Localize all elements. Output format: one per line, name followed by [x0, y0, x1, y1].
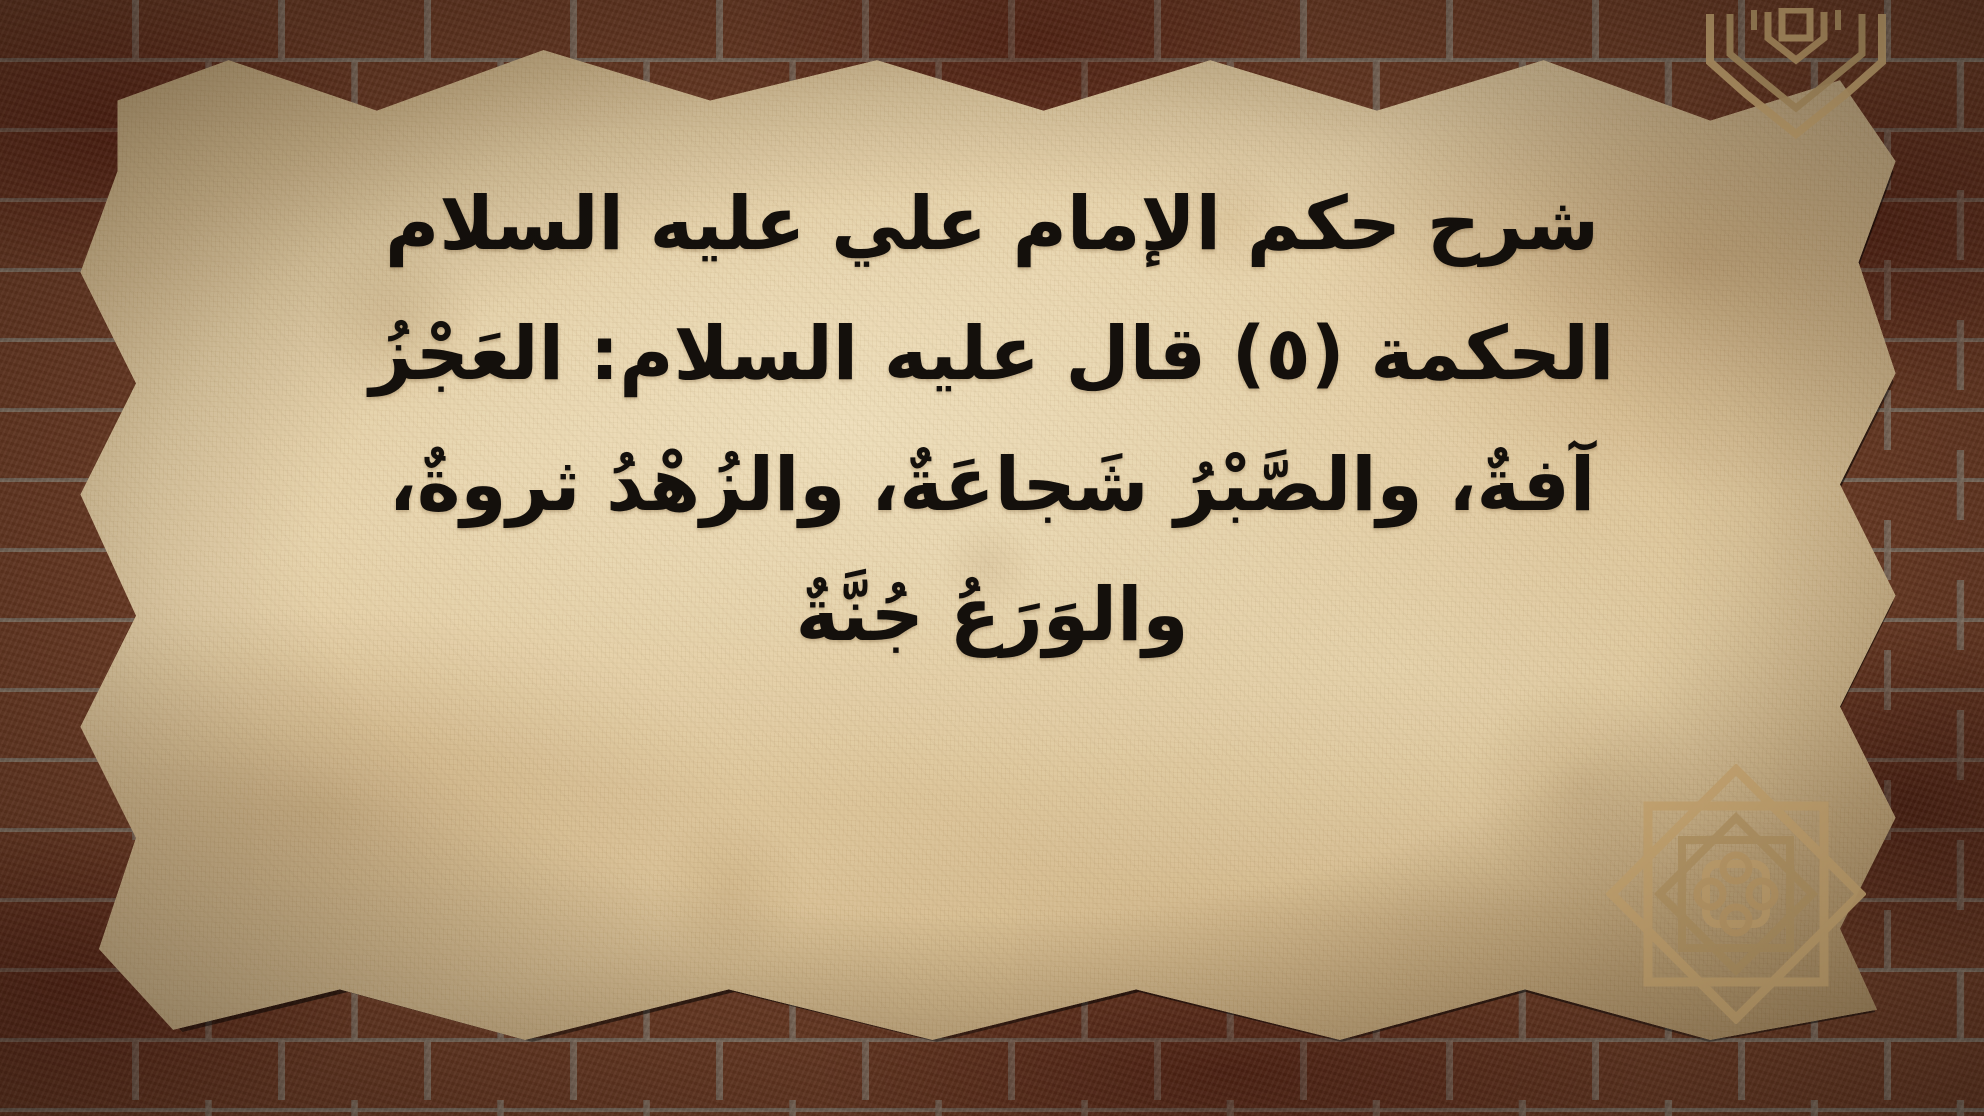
- islamic-geometric-knot-ornament: [1696, 8, 1896, 162]
- islamic-eight-point-star-ornament: [1606, 764, 1866, 1028]
- quote-body-line-1: آفةٌ، والصَّبْرُ شَجاعَةٌ، والزُهْدُ ثرو…: [180, 429, 1804, 541]
- quote-card: شرح حكم الإمام علي عليه السلام الحكمة (٥…: [0, 0, 1984, 1116]
- quote-title-line: شرح حكم الإمام علي عليه السلام: [180, 168, 1804, 280]
- quote-body-line-2: والوَرَعُ جُنَّةٌ: [180, 559, 1804, 671]
- quote-reference-line: الحكمة (٥) قال عليه السلام: العَجْزُ: [180, 298, 1804, 410]
- quote-text-block: شرح حكم الإمام علي عليه السلام الحكمة (٥…: [180, 168, 1804, 672]
